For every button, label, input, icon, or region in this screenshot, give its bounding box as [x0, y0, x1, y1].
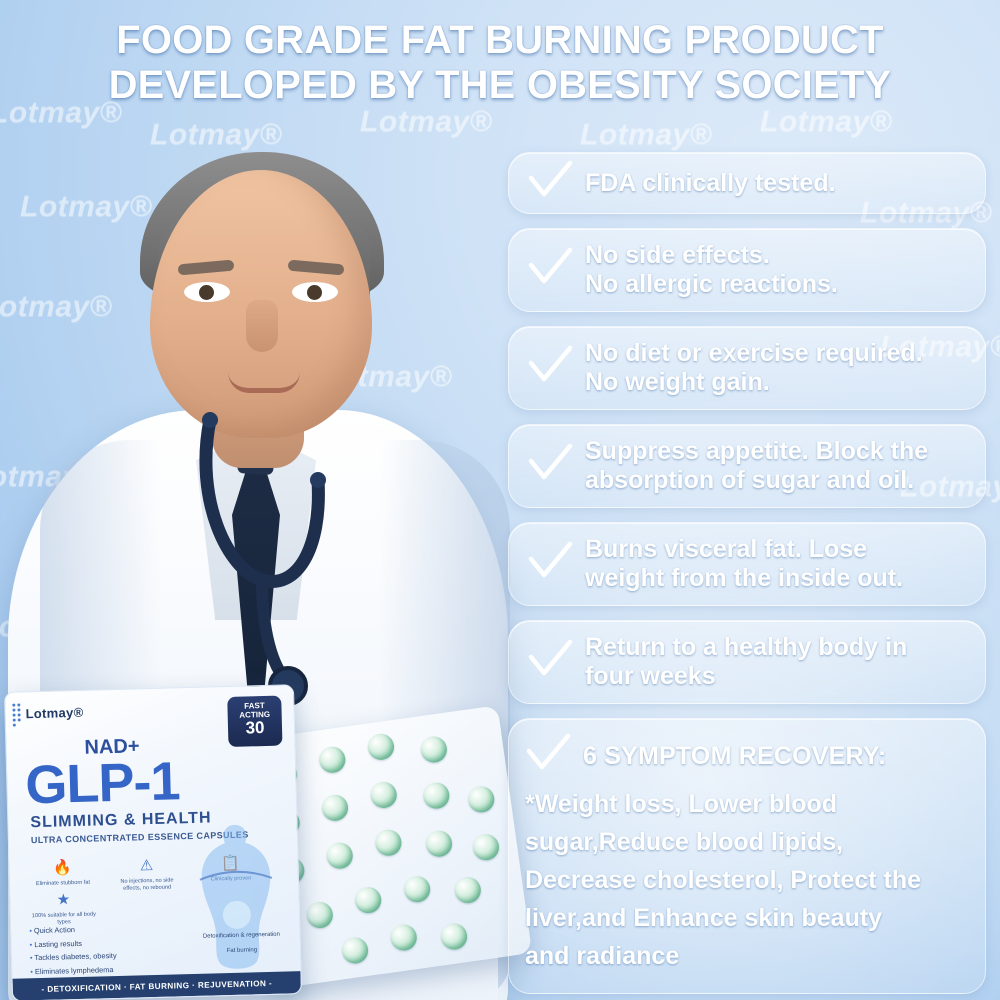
benefit-text: No diet or exercise required.No weight g… [585, 339, 923, 397]
benefit-item-4: Suppress appetite. Block theabsorption o… [508, 424, 986, 508]
capsule [318, 745, 347, 774]
benefit-text: FDA clinically tested. [585, 169, 836, 198]
pupil-right [307, 285, 322, 300]
product-title: GLP-1 [25, 750, 181, 816]
capsule [325, 841, 354, 870]
feature-icon-cell: 🔥 Eliminate stubborn fat [27, 858, 98, 895]
capsule [374, 828, 403, 857]
capsule [471, 833, 500, 862]
flame-icon: 🔥 [27, 858, 97, 879]
stethoscope-icon [150, 410, 390, 710]
capsule [467, 785, 496, 814]
product-box-face: Lotmay® FAST ACTING 30 NAD+ GLP-1 SLIMMI… [4, 684, 302, 1000]
benefit-item-2: No side effects.No allergic reactions. [508, 228, 986, 312]
page-title: FOOD GRADE FAT BURNING PRODUCT DEVELOPED… [0, 18, 1000, 108]
benefit-item-3: No diet or exercise required.No weight g… [508, 326, 986, 410]
badge-top-label: FAST [244, 701, 265, 711]
product-box: Lotmay® FAST ACTING 30 NAD+ GLP-1 SLIMMI… [4, 684, 302, 1000]
art-captions: Detoxification & regeneration Fat burnin… [193, 931, 290, 956]
capsule [424, 829, 453, 858]
capsule [402, 875, 431, 904]
check-icon [527, 443, 573, 489]
check-icon [527, 639, 573, 685]
headline-line-2: DEVELOPED BY THE OBESITY SOCIETY [0, 63, 1000, 108]
no-needle-icon: ⚠ [111, 856, 181, 877]
check-icon [527, 345, 573, 391]
feature-label: Eliminate stubborn fat [36, 879, 90, 886]
brand-dots-icon [11, 702, 23, 720]
benefit-text: Suppress appetite. Block theabsorption o… [585, 437, 928, 495]
check-icon [525, 733, 571, 779]
capsule [340, 936, 369, 965]
symptom-recovery-title: 6 SYMPTOM RECOVERY: [583, 742, 886, 771]
capsule [453, 875, 482, 904]
capsule [354, 885, 383, 914]
benefit-text: Burns visceral fat. Loseweight from the … [585, 535, 903, 593]
feature-icon-cell: ⚠ No injections, no side effects, no reb… [111, 856, 182, 893]
benefit-text: Return to a healthy body infour weeks [585, 633, 907, 691]
percent-icon: ★ [28, 890, 98, 911]
pupil-left [199, 285, 214, 300]
promo-poster: Lotmay® Lotmay® Lotmay® Lotmay® Lotmay® … [0, 0, 1000, 1000]
symptom-recovery-header: 6 SYMPTOM RECOVERY: [525, 733, 969, 779]
capsule [439, 922, 468, 951]
symptom-recovery-card: 6 SYMPTOM RECOVERY: *Weight loss, Lower … [508, 718, 986, 994]
capsule [305, 900, 334, 929]
benefit-item-6: Return to a healthy body infour weeks [508, 620, 986, 704]
art-caption-1: Detoxification & regeneration [193, 931, 289, 942]
eye-left [184, 282, 230, 302]
eye-right [292, 282, 338, 302]
watermark-text: Lotmay® [760, 105, 892, 139]
benefit-item-1: FDA clinically tested. [508, 152, 986, 214]
capsule [389, 923, 418, 952]
capsule [366, 732, 395, 761]
check-icon [527, 247, 573, 293]
fast-acting-badge: FAST ACTING 30 [227, 696, 282, 747]
check-icon [527, 160, 573, 206]
brand-name: Lotmay® [25, 705, 83, 722]
symptom-recovery-body: *Weight loss, Lower blood sugar,Reduce b… [525, 785, 969, 975]
benefits-list: FDA clinically tested. No side effects.N… [508, 152, 986, 994]
nose [246, 300, 278, 352]
badge-number: 30 [228, 719, 282, 739]
check-icon [527, 541, 573, 587]
capsule [369, 780, 398, 809]
headline-line-1: FOOD GRADE FAT BURNING PRODUCT [116, 18, 883, 62]
capsule [320, 793, 349, 822]
watermark-text: Lotmay® [580, 118, 712, 152]
product-bullet-list: Quick Action Lasting results Tackles dia… [29, 922, 117, 979]
capsule [422, 781, 451, 810]
benefit-item-5: Burns visceral fat. Loseweight from the … [508, 522, 986, 606]
benefit-text: No side effects.No allergic reactions. [585, 241, 838, 299]
feature-icon-cell: ★ 100% suitable for all body types [28, 890, 99, 927]
mouth [228, 372, 300, 393]
capsule [419, 735, 448, 764]
